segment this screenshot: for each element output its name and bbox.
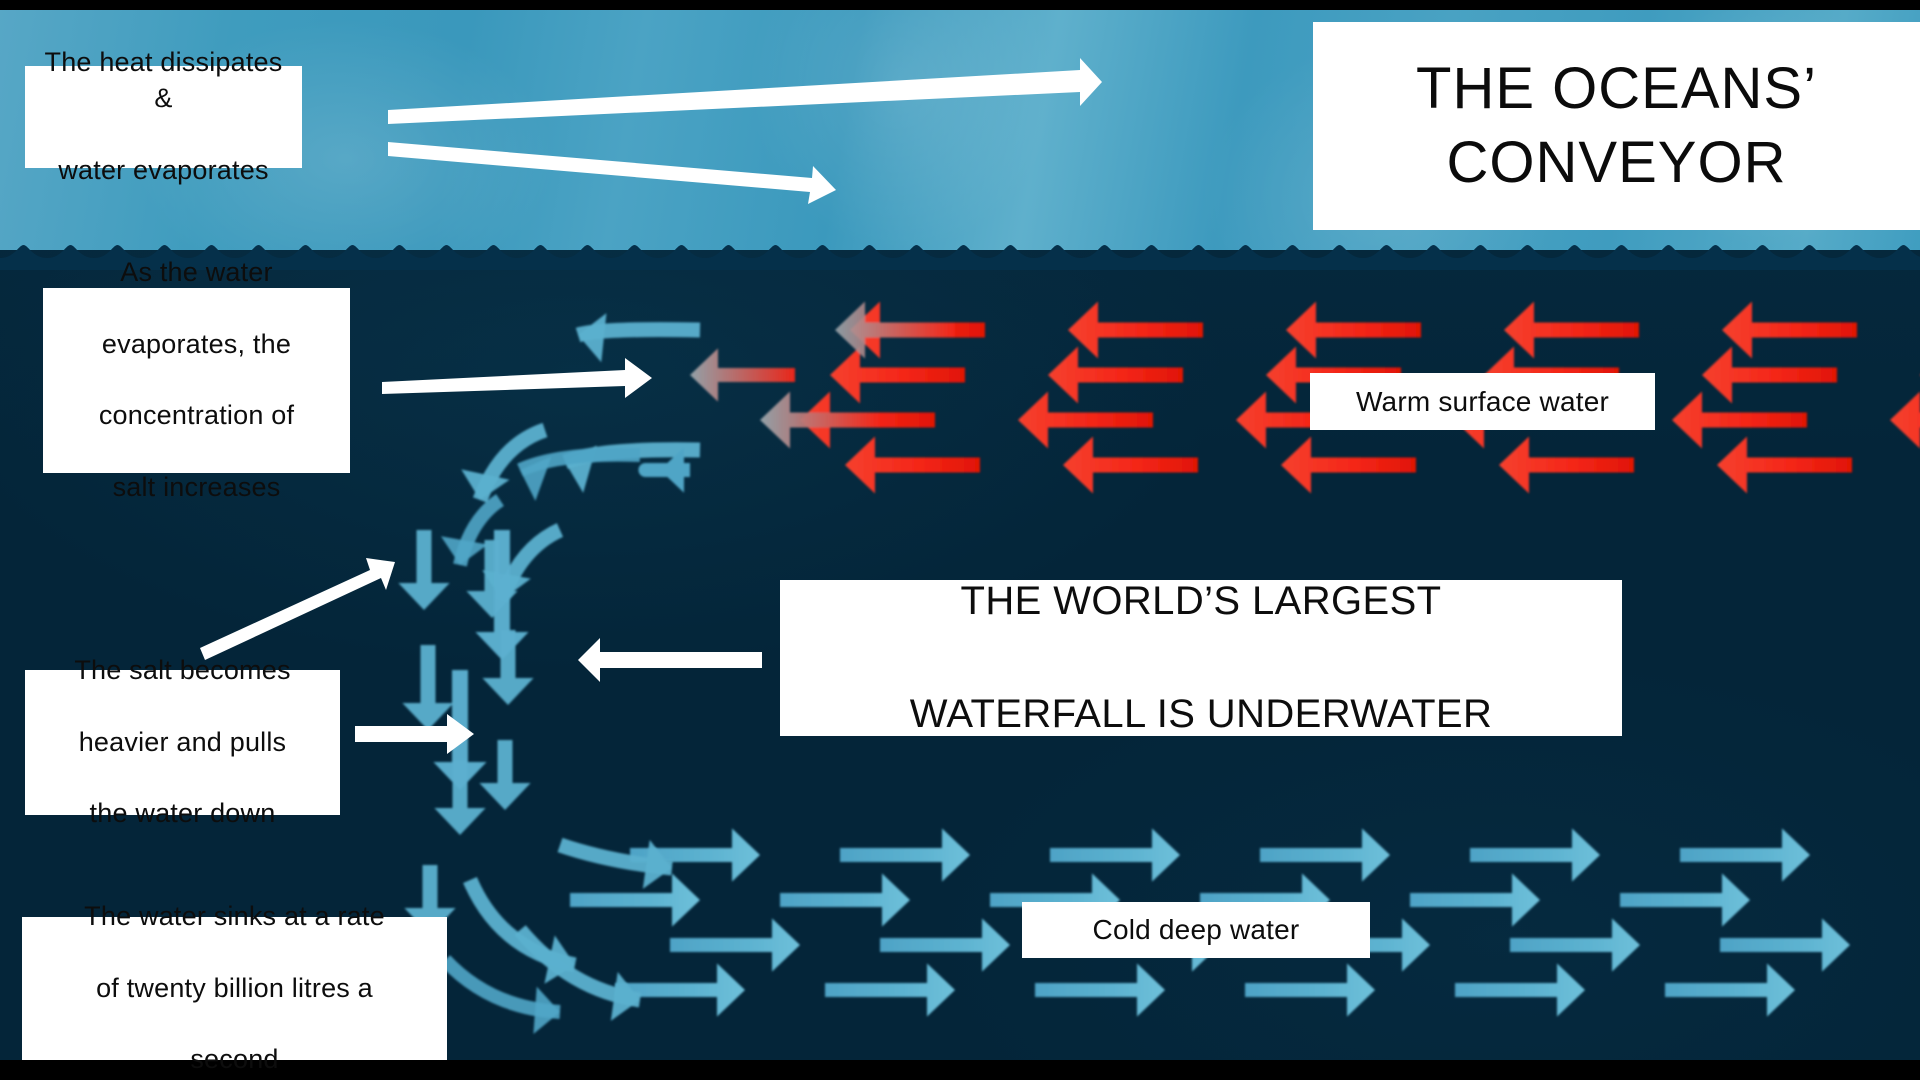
legend-cold-deep-water: Cold deep water — [1022, 902, 1370, 958]
callout-salt-concentration: As the water evaporates, the concentrati… — [43, 288, 350, 473]
callout-sink-line-3: second — [36, 1042, 433, 1078]
pointer-arrow-headline-left — [578, 638, 762, 682]
evaporation-arrow-upper — [388, 58, 1102, 124]
callout-evap-line-1: As the water — [57, 255, 336, 291]
callout-sink-line-1: The water sinks at a rate — [36, 899, 433, 935]
callout-heat-dissipates: The heat dissipates & water evaporates — [25, 66, 302, 168]
legend-warm-label: Warm surface water — [1310, 383, 1655, 420]
evaporation-arrow-lower — [388, 142, 836, 204]
title-line-1: THE OCEANS’ — [1416, 56, 1817, 121]
callout-heat-line-1: The heat dissipates & — [35, 45, 292, 117]
legend-warm-surface-water: Warm surface water — [1310, 373, 1655, 430]
callout-evap-line-2: evaporates, the — [57, 327, 336, 363]
callout-salt-heavier: The salt becomes heavier and pulls the w… — [25, 670, 340, 815]
slide-canvas: THE OCEANS’ CONVEYOR The heat dissipates… — [0, 0, 1920, 1080]
callout-salt-line-2: heavier and pulls — [37, 725, 328, 761]
headline-worlds-largest-waterfall: THE WORLD’S LARGEST WATERFALL IS UNDERWA… — [780, 580, 1622, 736]
callout-sink-rate: The water sinks at a rate of twenty bill… — [22, 917, 447, 1060]
headline-line-2: WATERFALL IS UNDERWATER — [780, 686, 1622, 743]
callout-salt-line-1: The salt becomes — [37, 653, 328, 689]
pointer-arrow-to-downwelling-top — [382, 358, 652, 398]
title-line-2: CONVEYOR — [1447, 130, 1787, 195]
callout-salt-line-3: the water down — [37, 796, 328, 832]
pointer-arrow-diagonal-salt — [200, 558, 395, 660]
pointer-arrow-salt-to-column — [355, 714, 474, 754]
callout-evap-line-3: concentration of — [57, 398, 336, 434]
callout-sink-line-2: of twenty billion litres a — [36, 971, 433, 1007]
callout-evap-line-4: salt increases — [57, 470, 336, 506]
legend-cold-label: Cold deep water — [1022, 911, 1370, 948]
callout-heat-line-2: water evaporates — [35, 153, 292, 189]
headline-line-1: THE WORLD’S LARGEST — [780, 573, 1622, 630]
slide-title: THE OCEANS’ CONVEYOR — [1313, 22, 1920, 230]
